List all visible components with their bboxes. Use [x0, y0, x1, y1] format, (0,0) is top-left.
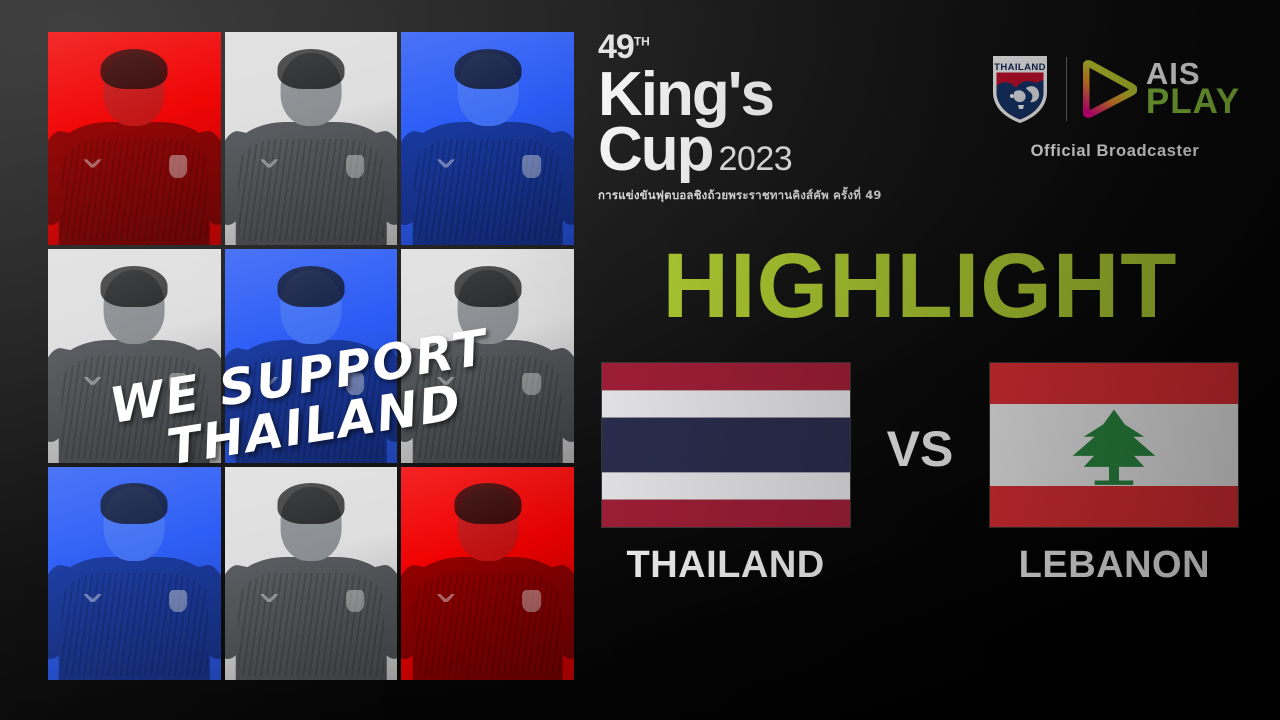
tile-shading [401, 249, 574, 462]
tile-shading [225, 249, 398, 462]
logo-year: 2023 [719, 140, 793, 178]
thailand-flag-icon [601, 362, 851, 528]
collage-tile-8 [225, 467, 398, 680]
edition-number-value: 49 [598, 28, 634, 66]
edition-number-suffix: TH [634, 35, 650, 49]
home-team: THAILAND [601, 362, 851, 587]
matchup-row: THAILAND VS LEBANON [590, 362, 1250, 587]
fa-thailand-badge-icon: THAILAND [990, 52, 1050, 126]
tile-shading [401, 467, 574, 680]
collage-tile-1 [48, 32, 221, 245]
home-team-name: THAILAND [601, 544, 851, 587]
edition-number: 49TH [598, 30, 650, 64]
svg-text:THAILAND: THAILAND [994, 62, 1046, 73]
right-content-column: 49TH King's Cup2023 การแข่งขันฟุตบอลชิงถ… [590, 0, 1280, 720]
official-broadcaster-caption: Official Broadcaster [975, 142, 1255, 161]
ais-play-wordmark: AIS PLAY [1146, 61, 1240, 118]
collage-tile-7 [48, 467, 221, 680]
player-photo-collage [48, 32, 574, 680]
broadcast-graphic-stage: WE SUPPORT THAILAND 49TH King's Cup2023 … [0, 0, 1280, 720]
lebanon-flag-icon [989, 362, 1239, 528]
tile-shading [225, 32, 398, 245]
ais-play-logo: AIS PLAY [1083, 59, 1240, 119]
broadcaster-lockup: THAILAND [975, 52, 1255, 161]
away-team-name: LEBANON [989, 544, 1239, 587]
collage-tile-5 [225, 249, 398, 462]
collage-tile-9 [401, 467, 574, 680]
kings-cup-logo: 49TH King's Cup2023 การแข่งขันฟุตบอลชิงถ… [598, 30, 848, 205]
logo-line-cup: Cup2023 [598, 121, 848, 179]
collage-tile-3 [401, 32, 574, 245]
tile-shading [48, 467, 221, 680]
thai-subtitle: การแข่งขันฟุตบอลชิงถ้วยพระราชทานคิงส์คัพ… [598, 187, 848, 205]
collage-tile-4 [48, 249, 221, 462]
play-triangle-icon [1083, 59, 1137, 119]
broadcaster-logos-row: THAILAND [975, 52, 1255, 126]
logo-cup-word: Cup [598, 115, 713, 184]
tile-shading [225, 467, 398, 680]
collage-tile-2 [225, 32, 398, 245]
away-team: LEBANON [989, 362, 1239, 587]
tile-shading [48, 32, 221, 245]
page-title: HIGHLIGHT [590, 240, 1250, 332]
tile-shading [48, 249, 221, 462]
logo-divider [1066, 57, 1067, 121]
play-word: PLAY [1146, 87, 1240, 117]
tile-shading [401, 32, 574, 245]
collage-tile-6 [401, 249, 574, 462]
versus-label: VS [887, 420, 954, 478]
